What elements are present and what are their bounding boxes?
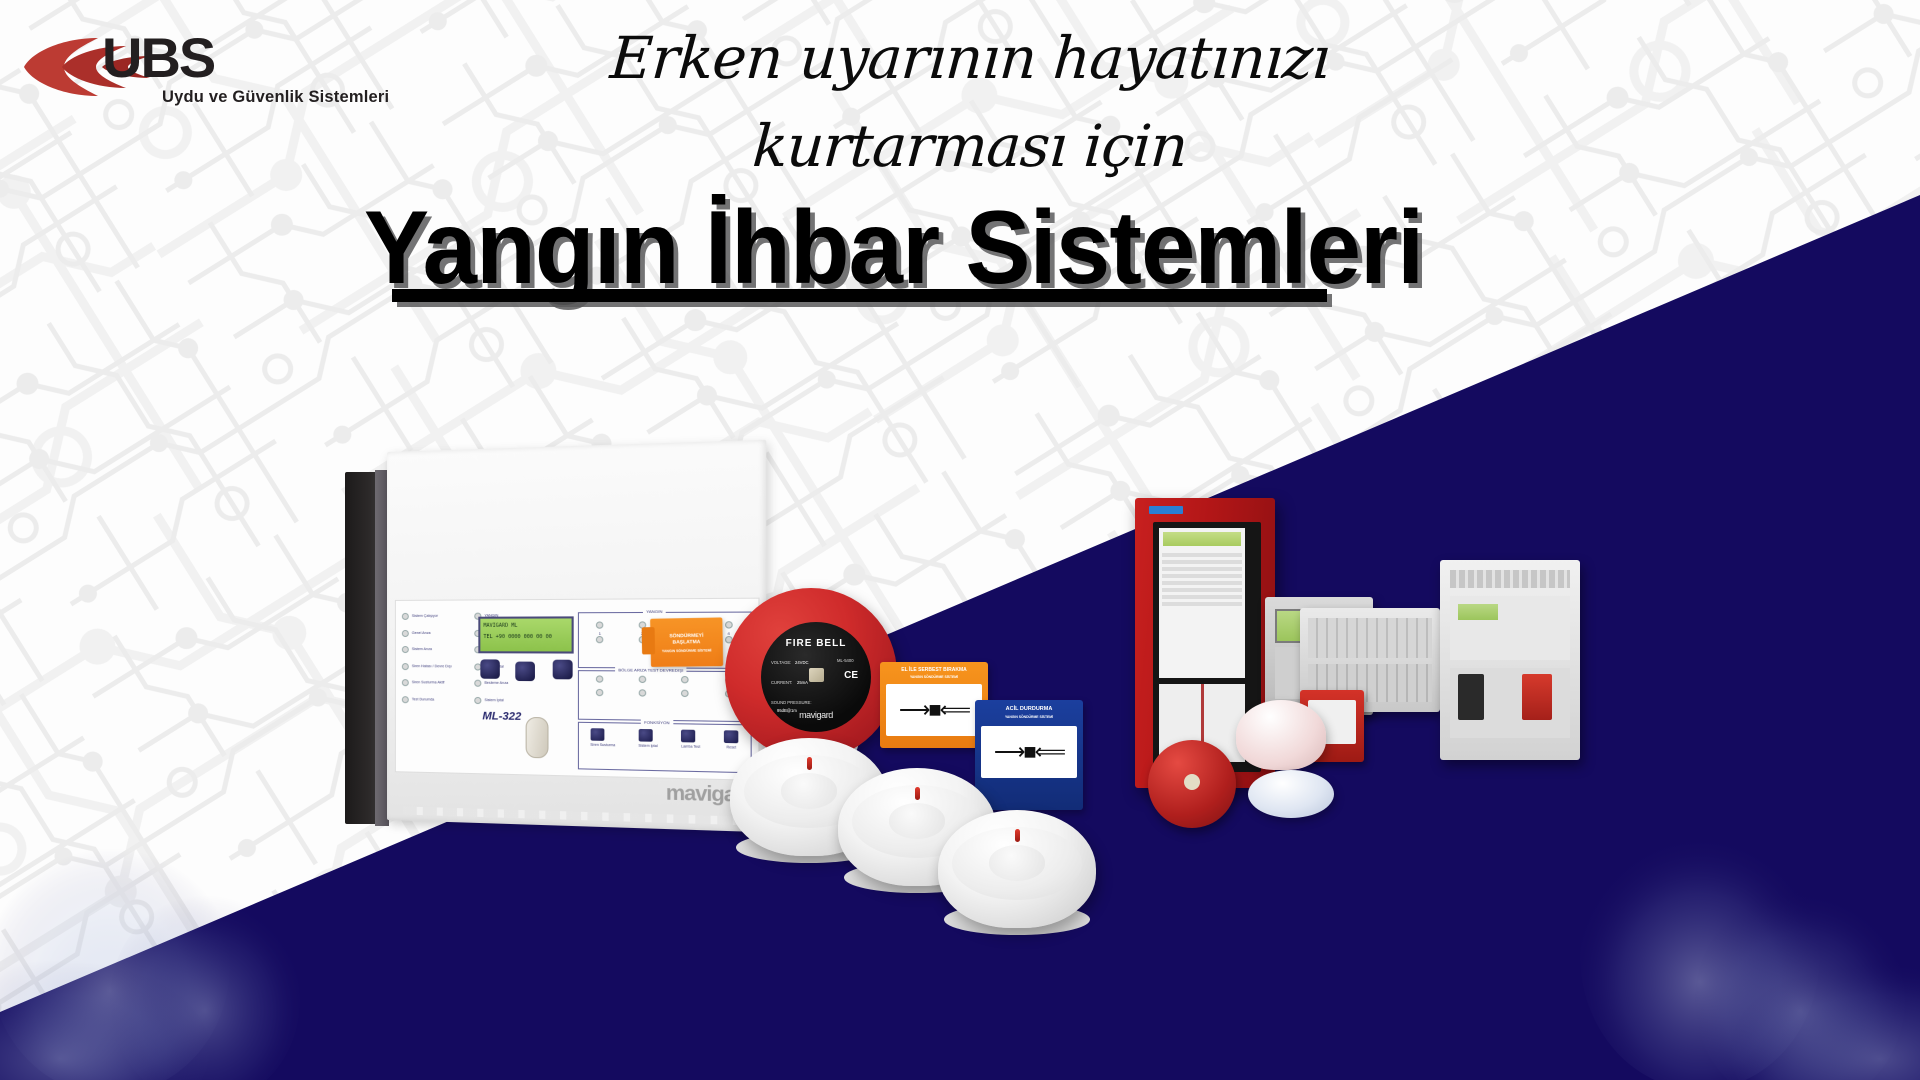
led-indicator [596, 636, 603, 643]
detector-center [989, 845, 1046, 880]
fire-bell: FIRE BELL VOLTAGE: 24VDC ML-5400 CURRENT… [725, 588, 897, 760]
led-indicator [402, 696, 409, 703]
cabinet-lcd [1163, 532, 1241, 546]
call-point-orange-button[interactable]: ⟶■⟸ [886, 684, 982, 736]
cabinet-row [1162, 553, 1242, 557]
status-led-row: Siren Susturma Aktif [402, 679, 470, 687]
cabinet-row [1162, 574, 1242, 578]
detector-center [781, 773, 838, 808]
repeater-lower-section [1450, 668, 1570, 738]
led-indicator [402, 679, 409, 686]
status-led-row: Sistem Çalışıyor [402, 613, 470, 620]
led-indicator [596, 621, 603, 628]
cabinet-row [1162, 560, 1242, 564]
bell-voltage-value: 24VDC [795, 660, 809, 666]
led-indicator [402, 646, 409, 653]
led-indicator [402, 663, 409, 670]
bell-pressure-label: SOUND PRESSURE: [771, 700, 812, 706]
repeater-red-module [1522, 674, 1552, 720]
button-cap[interactable] [638, 729, 652, 742]
cabinet-row [1162, 567, 1242, 571]
call-point-orange-line-1: EL İLE SERBEST BIRAKMA [880, 662, 988, 673]
status-led-column-left: Sistem Çalışıyor Genel Arıza Sistem Arız… [402, 613, 470, 713]
bell-title: FIRE BELL [761, 638, 871, 649]
panel-orange-release-label: SÖNDÜRMEYİ BAŞLATMA YANGIN SÖNDÜRME SİST… [650, 617, 723, 667]
nav-right-button[interactable] [553, 660, 573, 680]
fire-alarm-control-panel: Sistem Çalışıyor Genel Arıza Sistem Arız… [345, 452, 750, 824]
button-group-title: FONKSİYON [641, 720, 673, 726]
cabinet-rows [1159, 550, 1245, 612]
button-cap[interactable] [681, 730, 695, 743]
status-led-row: Sistem Arıza [402, 646, 470, 653]
led-indicator [681, 676, 689, 683]
call-point-blue-line-1: ACİL DURDURMA [975, 700, 1083, 713]
status-led-row: Genel Arıza [402, 629, 470, 636]
nav-left-button[interactable] [480, 659, 499, 678]
manual-release-call-point-orange[interactable]: EL İLE SERBEST BIRAKMA YANGIN SÖNDÜRME S… [880, 662, 988, 748]
bell-current-label: CURRENT: [771, 680, 792, 686]
tall-repeater-panel [1440, 560, 1580, 760]
repeater-upper-section [1450, 596, 1570, 660]
panel-navigation-buttons[interactable] [480, 659, 575, 705]
led-indicator [681, 690, 689, 697]
repeater-black-module [1458, 674, 1484, 720]
panel-key-switch[interactable] [526, 717, 549, 758]
panel-body: Sistem Çalışıyor Genel Arıza Sistem Arız… [387, 440, 766, 833]
alarm-bell-hub [1184, 774, 1200, 790]
annunciator-led-row-top [1308, 618, 1432, 658]
function-item [681, 690, 689, 700]
repeater-vent [1450, 570, 1570, 588]
orange-label-line-3: YANGIN SÖNDÜRME SİSTEMİ [651, 645, 723, 654]
led-indicator [638, 676, 646, 683]
alarm-led-icon [915, 787, 920, 800]
product-photo-group: Sistem Çalışıyor Genel Arıza Sistem Arız… [0, 0, 1920, 1080]
detector-center [889, 803, 946, 838]
function-item [596, 675, 603, 684]
function-item [596, 689, 603, 698]
repeater-lcd [1458, 604, 1498, 620]
panel-button[interactable]: Lamba Test [681, 730, 700, 749]
zone-group-title: YANGIN [643, 609, 666, 614]
lcd-line-2: TEL +90 0000 000 00 00 [480, 634, 571, 645]
red-alarm-bell [1148, 740, 1236, 828]
cabinet-row [1162, 581, 1242, 585]
cabinet-row [1162, 595, 1242, 599]
nav-enter-button[interactable] [515, 662, 535, 682]
ceiling-detector-body [1248, 770, 1334, 818]
smoke-detector [938, 810, 1096, 928]
led-indicator [638, 689, 646, 696]
press-arrows-icon: ⟶■⟸ [886, 684, 982, 736]
call-point-blue-line-2: YANGIN SÖNDÜRME SİSTEMİ [975, 713, 1083, 721]
led-indicator [596, 675, 603, 682]
call-point-orange-line-2: YANGIN SÖNDÜRME SİSTEMİ [880, 673, 988, 680]
bell-center-hub [809, 668, 824, 682]
ceiling-sounder-dome [1236, 700, 1326, 770]
bell-model: ML-5400 [837, 658, 854, 664]
status-led-row: Test Durumda [402, 696, 470, 704]
cabinet-row [1162, 602, 1242, 606]
alarm-led-icon [1015, 829, 1020, 842]
ceiling-smoke-detector [1248, 770, 1334, 818]
ce-mark-icon: CE [844, 670, 858, 681]
button-cap[interactable] [590, 728, 604, 741]
alarm-led-icon [807, 757, 812, 770]
hero-banner: UBS Uydu ve Güvenlik Sistemleri Erken uy… [0, 0, 1920, 1080]
function-item [638, 689, 646, 698]
label-tab [642, 627, 655, 654]
panel-model-label: ML-322 [482, 710, 521, 723]
lcd-line-1: MAVIGARD ML [480, 618, 571, 634]
zone-item: 1 [596, 621, 603, 645]
bell-current-value: 25mA [797, 680, 808, 686]
led-indicator [402, 613, 409, 620]
status-led-row: Siren Hatası / Devre Dışı [402, 663, 470, 670]
bell-label-face: FIRE BELL VOLTAGE: 24VDC ML-5400 CURRENT… [761, 622, 871, 732]
bell-brand: mavigard [761, 710, 871, 720]
sounder-dome-body [1236, 700, 1326, 770]
function-item [681, 676, 689, 686]
cabinet-row [1162, 588, 1242, 592]
orange-label-line-1: SÖNDÜRMEYİ [650, 617, 723, 639]
panel-button[interactable]: Sistem Iptal [638, 729, 657, 748]
function-item [638, 676, 646, 685]
cabinet-blue-tag [1149, 506, 1183, 514]
led-indicator [596, 689, 603, 696]
led-indicator [402, 629, 409, 636]
panel-button[interactable]: Siren Susturma [590, 728, 615, 747]
bell-voltage-label: VOLTAGE: [771, 660, 791, 666]
function-row-title: BÖLGE ARIZA TEST DEVREDIŞI [615, 667, 686, 673]
panel-lcd-display: MAVIGARD ML TEL +90 0000 000 00 00 [478, 616, 573, 653]
panel-vent-strip [403, 806, 740, 825]
cabinet-inner-panel [1159, 528, 1245, 678]
panel-front-face: Sistem Çalışıyor Genel Arıza Sistem Arız… [395, 598, 760, 781]
